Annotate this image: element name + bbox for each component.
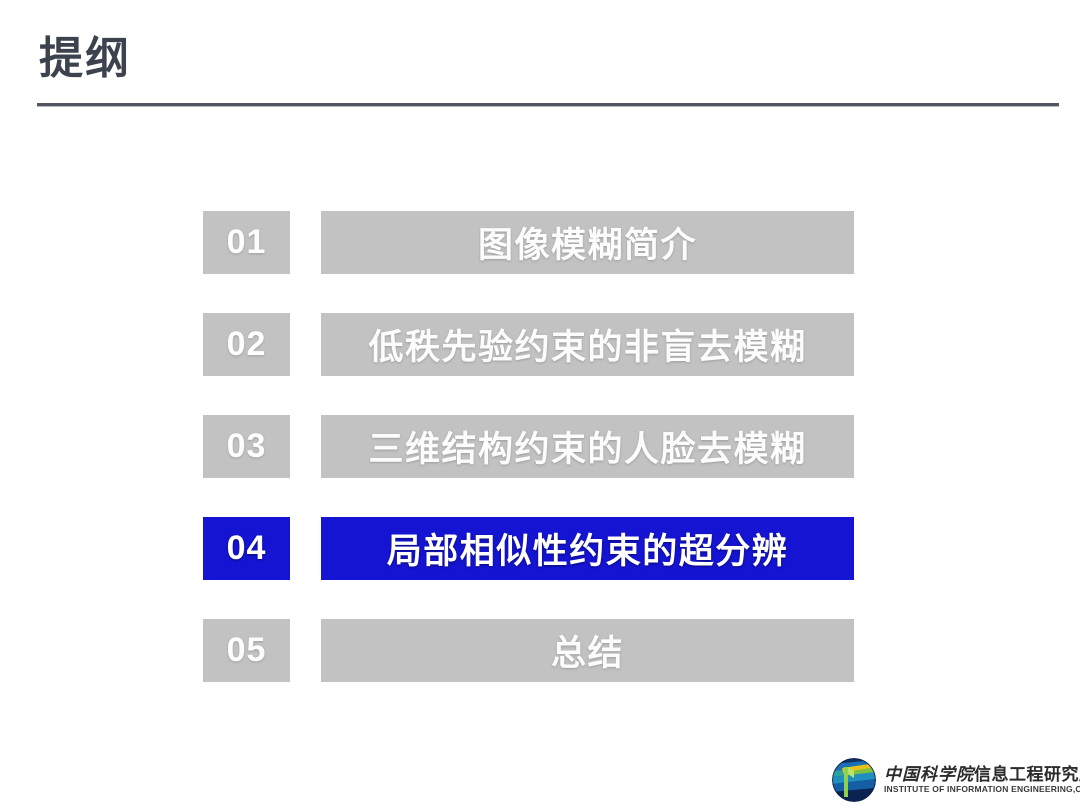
logo-institute-name: 信息工程研究所: [974, 765, 1080, 784]
outline-index-badge[interactable]: 01: [203, 211, 290, 274]
outline-index-badge[interactable]: 03: [203, 415, 290, 478]
outline-item-label[interactable]: 低秩先验约束的非盲去模糊: [321, 313, 854, 376]
outline-row-01[interactable]: 01图像模糊简介: [203, 211, 854, 274]
outline-item-label[interactable]: 局部相似性约束的超分辨: [321, 517, 854, 580]
outline-index-badge[interactable]: 02: [203, 313, 290, 376]
outline-item-label[interactable]: 图像模糊简介: [321, 211, 854, 274]
outline-row-04[interactable]: 04局部相似性约束的超分辨: [203, 517, 854, 580]
logo-chinese-name: 中国科学院信息工程研究所: [884, 766, 1080, 784]
outline-row-03[interactable]: 03三维结构约束的人脸去模糊: [203, 415, 854, 478]
outline-index-badge[interactable]: 04: [203, 517, 290, 580]
outline-index-badge[interactable]: 05: [203, 619, 290, 682]
outline-item-label[interactable]: 三维结构约束的人脸去模糊: [321, 415, 854, 478]
outline-list: 01图像模糊简介02低秩先验约束的非盲去模糊03三维结构约束的人脸去模糊04局部…: [203, 211, 854, 682]
logo-academy-name: 中国科学院: [884, 765, 974, 784]
outline-item-label[interactable]: 总结: [321, 619, 854, 682]
logo-english-name: INSTITUTE OF INFORMATION ENGINEERING,CAS: [884, 785, 1080, 794]
outline-row-02[interactable]: 02低秩先验约束的非盲去模糊: [203, 313, 854, 376]
title-divider: [37, 103, 1059, 106]
outline-row-05[interactable]: 05总结: [203, 619, 854, 682]
logo-text-block: 中国科学院信息工程研究所 INSTITUTE OF INFORMATION EN…: [884, 766, 1080, 795]
page-title: 提纲: [39, 36, 131, 82]
institute-emblem-icon: [832, 758, 876, 802]
footer-logo: 中国科学院信息工程研究所 INSTITUTE OF INFORMATION EN…: [832, 758, 1080, 802]
